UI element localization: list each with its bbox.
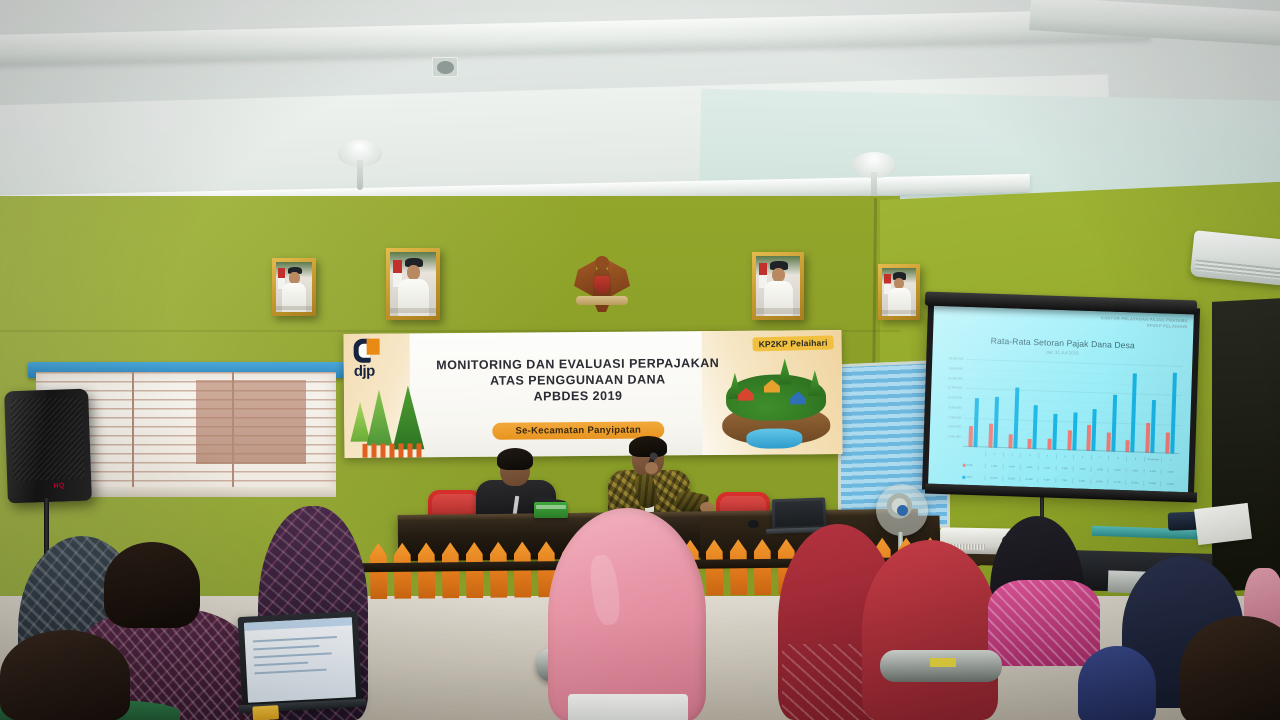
doorway-dark <box>1212 298 1280 592</box>
chart-plot-area: 18.000.00016.000.00014.000.00012.000.000… <box>963 359 1182 454</box>
chart-bar <box>1111 395 1117 452</box>
chair-label-tag <box>930 658 956 667</box>
chart-bar <box>1106 432 1111 451</box>
audience-member-front-left-hair <box>0 630 130 720</box>
chart-category-label: Panyipatan <box>1144 456 1162 462</box>
chart-table-cell: 4.300 <box>1161 469 1179 475</box>
chart-bar <box>1072 412 1077 450</box>
chart-y-tick: 18.000.000 <box>949 356 964 360</box>
chart-bar <box>1170 373 1177 454</box>
chart-legend-swatch <box>962 475 965 478</box>
chart-y-tick: 2.000.000 <box>948 434 961 438</box>
chart-y-tick: 16.000.000 <box>948 366 963 370</box>
chart-table-cell: 4.200 <box>985 463 1003 469</box>
chart-table-cell: 10.500 <box>1002 476 1020 482</box>
seminar-photo-scene: HQ djp <box>0 0 1280 720</box>
foreground-white-object <box>568 694 688 720</box>
chart-table-cell: 12.400 <box>1020 476 1038 482</box>
pa-speaker: HQ <box>4 389 92 504</box>
chart-legend-swatch <box>963 463 966 466</box>
chart-category-label: 5 <box>1056 453 1074 459</box>
laptop-on-table <box>772 497 827 531</box>
djp-logo: djp <box>352 339 390 383</box>
chart-table-cell: 2.800 <box>1020 464 1038 470</box>
slide-header: KANTOR PELAYANAN PAJAK PRATAMA KP2KP PEL… <box>1037 313 1187 330</box>
chart-table-cell: 7.800 <box>1072 478 1090 484</box>
chart-legend-label: 2018 <box>967 463 973 466</box>
chart-y-axis: 18.000.00016.000.00014.000.00012.000.000… <box>931 358 964 447</box>
chart-table-cell: 5.300 <box>1090 467 1108 473</box>
chart-bar <box>1150 400 1156 453</box>
chart-category-label: 4 <box>1038 453 1056 459</box>
audience-member-maroon-hijab-2 <box>862 540 998 720</box>
presenter-right-hand-left <box>645 462 658 474</box>
paper-sheet <box>1194 503 1252 545</box>
banner-title: MONITORING DAN EVALUASI PERPAJAKAN ATAS … <box>428 355 728 405</box>
chart-table-cell: 6.100 <box>1143 468 1161 474</box>
chart-bar <box>1033 405 1038 450</box>
banner-title-line1: MONITORING DAN EVALUASI PERPAJAKAN <box>428 355 728 373</box>
chart-legend-label: 2019 <box>966 475 972 478</box>
chart-table-cell: 2.100 <box>1038 465 1056 471</box>
chart-category-label: 1 <box>985 451 1003 457</box>
audience-member-pink-hijab <box>548 508 706 720</box>
chart-table-cell: 3.900 <box>1108 467 1126 473</box>
chart-table-cell: 4.900 <box>1002 464 1020 470</box>
audience-member-pink-floral-scarf <box>988 580 1100 666</box>
chart-category-label: 8 <box>1108 455 1126 461</box>
djp-logo-text: djp <box>354 364 390 380</box>
chart-bar <box>1067 430 1072 450</box>
chart-table-cell: 16.600 <box>1161 481 1179 487</box>
chart-y-tick: 4.000.000 <box>948 425 961 429</box>
garuda-pancasila-emblem-icon <box>574 252 630 318</box>
chart-table-cell: 2.300 <box>1055 465 1073 471</box>
presenter-left-hair <box>497 448 533 470</box>
chart-table-cell: 4.100 <box>1073 466 1091 472</box>
chart-table-cell: 2.500 <box>1126 468 1144 474</box>
chart-bar <box>1013 388 1019 449</box>
ceiling-light-mount-2 <box>852 152 896 178</box>
presenter-right-hair <box>629 436 667 457</box>
chart-category-label: 1 <box>1161 457 1179 463</box>
chart-bars <box>963 359 1182 454</box>
chart-table-cell: 10.900 <box>1143 480 1161 486</box>
djp-mark-icon <box>354 339 380 363</box>
audience-member-blue-foreground <box>1078 646 1156 720</box>
chart-table-cell: 9.100 <box>1037 477 1055 483</box>
projector-screen: KANTOR PELAYANAN PAJAK PRATAMA KP2KP PEL… <box>922 300 1200 499</box>
chart-y-tick: 14.000.000 <box>948 376 963 380</box>
chart-table-cell: 8.600 <box>1090 479 1108 485</box>
official-portrait-1 <box>272 258 316 316</box>
presentation-slide: KANTOR PELAYANAN PAJAK PRATAMA KP2KP PEL… <box>928 306 1194 493</box>
chart-y-tick: 6.000.000 <box>948 415 961 419</box>
chart-bar <box>969 426 974 447</box>
foreground-laptop <box>238 611 363 711</box>
chart-y-tick: 8.000.000 <box>949 405 962 409</box>
chart-bar <box>1131 373 1138 452</box>
chart-data-table: 123456789Panyipatan120184.2004.9002.8002… <box>962 447 1179 490</box>
chart-bar-group <box>1160 365 1183 454</box>
chart-table-cell: 10.100 <box>984 475 1002 481</box>
chart-bar <box>993 396 999 447</box>
chart-y-tick: 10.000.000 <box>947 395 962 399</box>
tissue-box-green <box>534 502 568 518</box>
chart-bar <box>1165 432 1170 453</box>
chart-table-cell: 11.700 <box>1108 479 1126 485</box>
chart-table-cell: 7.300 <box>1055 477 1073 483</box>
event-banner: djp MONITORING DAN EVALUASI PERPAJAKAN A… <box>344 330 843 458</box>
chart-category-label: 6 <box>1073 454 1091 460</box>
pedestal-fan <box>876 484 928 536</box>
chart-bar <box>988 424 993 448</box>
chart-category-label: 9 <box>1126 456 1144 462</box>
banner-title-line3: APBDES 2019 <box>428 387 728 405</box>
audience-member-man-hair <box>104 542 200 628</box>
ceiling-vent-icon <box>432 57 458 77</box>
chart-table-cell: 16.200 <box>1125 480 1143 486</box>
chart-category-label: 7 <box>1091 455 1109 461</box>
chart-y-tick: 12.000.000 <box>948 386 963 390</box>
chart-bar <box>1052 414 1057 450</box>
chart-bar <box>1091 409 1096 451</box>
banner-fence-art <box>362 443 424 457</box>
chart-bar <box>974 398 980 447</box>
chart-category-label: 2 <box>1003 452 1021 458</box>
official-portrait-2 <box>386 248 440 320</box>
chart-category-label: 3 <box>1020 452 1038 458</box>
official-portrait-3 <box>752 252 804 320</box>
mouse-device <box>748 520 759 528</box>
banner-office-label: KP2KP Pelaihari <box>752 335 833 351</box>
banner-village-island-art <box>716 352 837 449</box>
ceiling-light-mount-1 <box>338 140 382 166</box>
official-portrait-4 <box>878 264 920 320</box>
